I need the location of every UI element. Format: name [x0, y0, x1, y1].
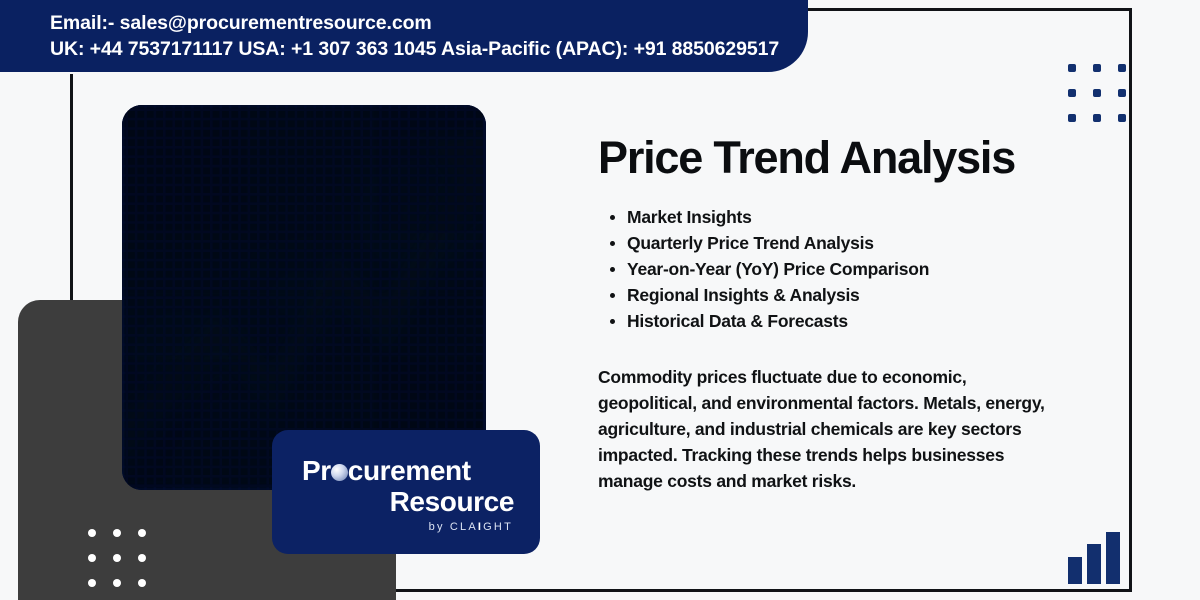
frame-line-vertical-left [70, 74, 73, 302]
frame-line-bottom [396, 589, 1132, 592]
page-title: Price Trend Analysis [598, 132, 1078, 184]
dot-grid-icon-bottom-left [88, 529, 146, 587]
list-item: Regional Insights & Analysis [598, 282, 1078, 308]
bar-chart-bar-3 [1106, 532, 1120, 584]
frame-line-top [806, 8, 1132, 11]
dot [138, 529, 146, 537]
logo-line-two: Resource [296, 486, 516, 518]
byline-suffix: GHT [483, 521, 513, 533]
dot [1068, 114, 1076, 122]
list-item: Year-on-Year (YoY) Price Comparison [598, 256, 1078, 282]
dot-grid-icon-top-right [1068, 64, 1126, 122]
logo-byline: by CLAIGHT [296, 521, 516, 533]
procurement-resource-logo-card[interactable]: Prcurement Resource by CLAIGHT [272, 430, 540, 554]
dot [113, 529, 121, 537]
dot [1118, 64, 1126, 72]
list-item: Quarterly Price Trend Analysis [598, 230, 1078, 256]
byline-prefix: by CLA [429, 521, 478, 533]
contact-bar: Email:- sales@procurementresource.com UK… [0, 0, 808, 72]
sphere-o-icon [331, 464, 348, 481]
logo-line-one: Prcurement [296, 456, 516, 486]
logo-text-pr: Pr [302, 455, 331, 486]
dot [138, 579, 146, 587]
dot [113, 579, 121, 587]
dot [88, 579, 96, 587]
bar-chart-bar-2 [1087, 544, 1101, 584]
body-paragraph: Commodity prices fluctuate due to econom… [598, 364, 1063, 494]
list-item: Market Insights [598, 204, 1078, 230]
dot [1093, 114, 1101, 122]
list-item: Historical Data & Forecasts [598, 308, 1078, 334]
contact-phone-line[interactable]: UK: +44 7537171117 USA: +1 307 363 1045 … [50, 36, 808, 62]
logo-text-curement: curement [348, 455, 471, 486]
bar-chart-bar-1 [1068, 557, 1082, 584]
dot [1068, 64, 1076, 72]
dot [138, 554, 146, 562]
feature-list: Market Insights Quarterly Price Trend An… [598, 204, 1078, 334]
dot [1068, 89, 1076, 97]
dot [1093, 89, 1101, 97]
poster-canvas: Email:- sales@procurementresource.com UK… [0, 0, 1200, 600]
dot [88, 529, 96, 537]
dot [88, 554, 96, 562]
contact-email-line[interactable]: Email:- sales@procurementresource.com [50, 10, 808, 36]
frame-line-right [1129, 8, 1132, 592]
dot [1093, 64, 1101, 72]
bar-chart-icon [1068, 532, 1124, 584]
dot [1118, 114, 1126, 122]
logo-wordmark: Prcurement Resource by CLAIGHT [296, 456, 516, 533]
dot [113, 554, 121, 562]
dot [1118, 89, 1126, 97]
content-column: Price Trend Analysis Market Insights Qua… [598, 132, 1078, 494]
